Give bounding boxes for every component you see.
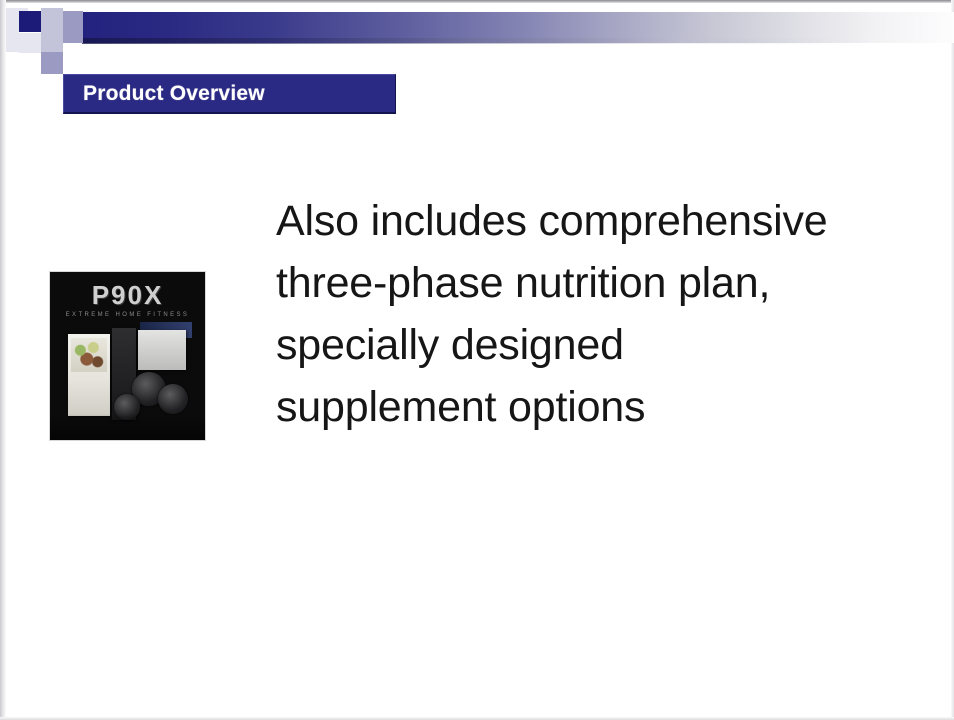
p90x-logo: P90X <box>50 280 205 311</box>
header-gradient-bar-shadow <box>82 38 954 44</box>
slide-left-border <box>0 0 6 720</box>
decor-square-mid-3 <box>41 52 63 74</box>
slide-top-border <box>0 0 954 3</box>
product-image-disc-2 <box>158 384 188 414</box>
decor-square-mid-2 <box>63 30 83 43</box>
decor-square-light-1 <box>41 8 63 30</box>
presentation-slide: Product Overview P90X EXTREME HOME FITNE… <box>0 0 954 720</box>
product-image-shadow <box>50 414 205 440</box>
product-image: P90X EXTREME HOME FITNESS <box>50 272 205 440</box>
product-image-food-photo <box>71 338 107 372</box>
decor-square-light-2 <box>41 30 63 52</box>
p90x-tagline: EXTREME HOME FITNESS <box>50 312 205 318</box>
product-image-booklet <box>138 330 186 370</box>
slide-body-text: Also includes comprehensive three-phase … <box>276 190 916 438</box>
decor-square-pale-2 <box>19 33 41 53</box>
slide-title-plate: Product Overview <box>63 74 396 114</box>
decor-square-pale-3 <box>6 30 19 52</box>
decor-square-dark-1 <box>19 11 41 32</box>
page-title: Product Overview <box>64 82 265 106</box>
